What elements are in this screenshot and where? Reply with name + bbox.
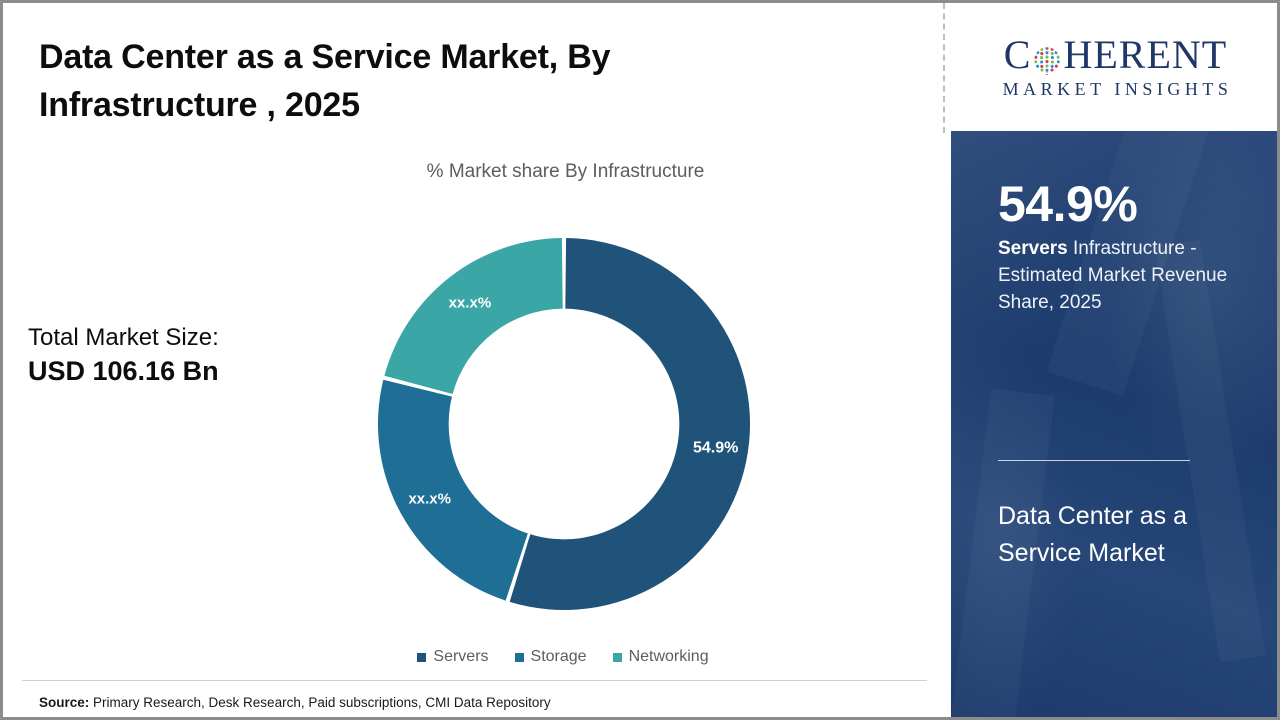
logo-tagline: MARKET INSIGHTS — [999, 79, 1233, 100]
vertical-dashed-divider — [943, 3, 945, 133]
legend-swatch-icon — [515, 653, 524, 662]
legend-swatch-icon — [417, 653, 426, 662]
left-content-pane: Data Center as a Service Market, By Infr… — [3, 3, 946, 717]
panel-divider — [998, 460, 1190, 461]
legend-label: Storage — [531, 648, 587, 666]
legend-label: Servers — [433, 648, 488, 666]
total-market-size-label: Total Market Size: — [28, 323, 328, 354]
infographic-slide: Data Center as a Service Market, By Infr… — [0, 0, 1280, 720]
source-text: Primary Research, Desk Research, Paid su… — [89, 695, 550, 710]
stat-description-bold: Servers — [998, 238, 1068, 259]
legend-swatch-icon — [613, 653, 622, 662]
total-market-size: Total Market Size: USD 106.16 Bn — [28, 323, 328, 388]
brand-logo[interactable]: C — [951, 3, 1280, 131]
right-panel: C — [951, 3, 1280, 717]
donut-slice[interactable] — [384, 238, 562, 394]
donut-slice-label: xx.x% — [408, 490, 451, 507]
legend-item[interactable]: Servers — [417, 648, 488, 666]
page-title: Data Center as a Service Market, By Infr… — [39, 33, 739, 130]
legend-label: Networking — [629, 648, 709, 666]
logo-wordmark-rest: HERENT — [1063, 35, 1227, 75]
legend-item[interactable]: Storage — [515, 648, 587, 666]
stat-percent: 54.9% — [998, 179, 1137, 229]
chart-legend: ServersStorageNetworking — [333, 648, 793, 666]
logo-letter-c: C — [1004, 35, 1032, 75]
panel-title: Data Center as a Service Market — [998, 498, 1238, 571]
donut-slice-label: 54.9% — [693, 440, 738, 457]
donut-slice-group — [378, 238, 750, 610]
globe-dots-icon — [1032, 42, 1062, 72]
stat-description: Servers Infrastructure - Estimated Marke… — [998, 236, 1243, 317]
logo-wordmark: C — [1004, 35, 1227, 75]
stat-panel: 54.9% Servers Infrastructure - Estimated… — [951, 131, 1280, 717]
source-line: Source: Primary Research, Desk Research,… — [39, 695, 551, 710]
donut-chart-svg: 54.9%xx.x%xx.x% — [374, 234, 754, 614]
legend-item[interactable]: Networking — [613, 648, 709, 666]
chart-subtitle: % Market share By Infrastructure — [293, 161, 838, 183]
source-label: Source: — [39, 695, 89, 710]
source-divider — [22, 680, 927, 681]
donut-slice[interactable] — [378, 380, 528, 601]
donut-slice-label: xx.x% — [449, 295, 492, 312]
total-market-size-value: USD 106.16 Bn — [28, 354, 328, 389]
donut-chart: 54.9%xx.x%xx.x% — [374, 234, 754, 614]
